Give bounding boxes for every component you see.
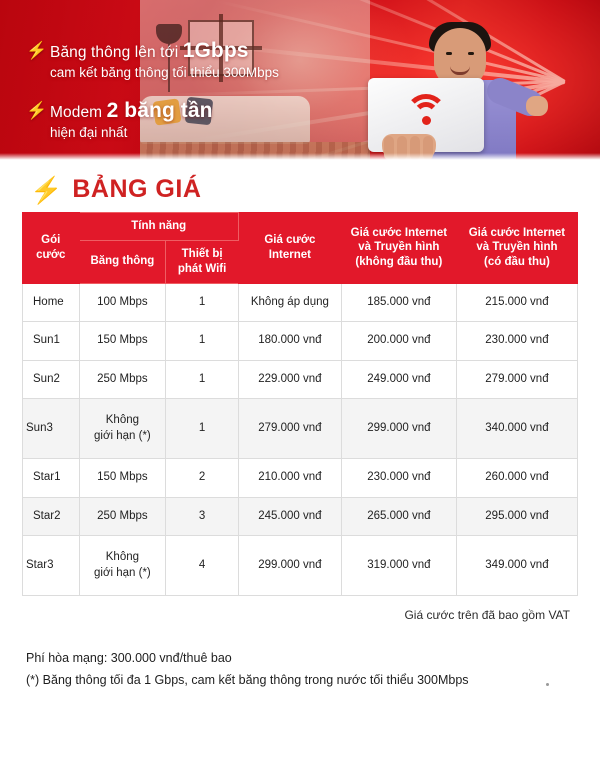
cell-tv-with-receiver: 279.000 vnđ	[456, 360, 577, 399]
cell-bandwidth: Khônggiới hạn (*)	[79, 399, 166, 459]
th-tv-with-receiver-line2: và Truyền hình	[476, 241, 557, 253]
table-body: Home100 Mbps1Không áp dụng185.000 vnđ215…	[23, 283, 578, 596]
cell-wifi-device: 4	[166, 536, 239, 596]
th-tv-no-receiver-line2: và Truyền hình	[358, 241, 439, 253]
table-row: Home100 Mbps1Không áp dụng185.000 vnđ215…	[23, 283, 578, 322]
th-wifi-device-line2: phát Wifi	[178, 263, 226, 275]
cell-bandwidth-line2: giới hạn (*)	[94, 430, 151, 442]
table-row: Sun1150 Mbps1180.000 vnđ200.000 vnđ230.0…	[23, 322, 578, 361]
banner-bullet-2-highlight: 2 băng tần	[107, 99, 213, 122]
th-internet-price: Giá cước Internet	[238, 213, 341, 284]
cell-wifi-device: 1	[166, 360, 239, 399]
cell-wifi-device: 1	[166, 283, 239, 322]
promo-banner: ⚡ Băng thông lên tới 1Gbps cam kết băng …	[0, 0, 600, 161]
th-internet-price-line1: Giá cước	[264, 234, 315, 246]
cell-tv-with-receiver: 340.000 vnđ	[456, 399, 577, 459]
table-header-row-1: Gói cước Tính năng Giá cước Internet Giá…	[23, 213, 578, 241]
cell-tv-with-receiver: 230.000 vnđ	[456, 322, 577, 361]
lightning-bolt-icon: ⚡	[26, 42, 40, 59]
price-table-container: Gói cước Tính năng Giá cước Internet Giá…	[0, 212, 600, 596]
cell-package: Sun2	[23, 360, 80, 399]
th-tv-with-receiver: Giá cước Internet và Truyền hình (có đầu…	[456, 213, 577, 284]
cell-internet-price: 180.000 vnđ	[238, 322, 341, 361]
cell-package: Star3	[23, 536, 80, 596]
cell-package: Home	[23, 283, 80, 322]
page-title: BẢNG GIÁ	[72, 175, 201, 204]
cell-tv-no-receiver: 185.000 vnđ	[341, 283, 456, 322]
cell-wifi-device: 3	[166, 497, 239, 536]
cell-wifi-device: 1	[166, 322, 239, 361]
table-row: Sun2250 Mbps1229.000 vnđ249.000 vnđ279.0…	[23, 360, 578, 399]
banner-bullet-1-highlight: 1Gbps	[183, 39, 249, 62]
banner-bullet-1-line1: Băng thông lên tới 1Gbps	[50, 38, 279, 64]
banner-bullet-2-prefix: Modem	[50, 104, 107, 121]
th-tv-with-receiver-line3: (có đầu thu)	[484, 256, 550, 268]
table-row: Star2250 Mbps3245.000 vnđ265.000 vnđ295.…	[23, 497, 578, 536]
th-internet-price-line2: Internet	[269, 249, 311, 261]
lightning-bolt-icon: ⚡	[26, 102, 40, 119]
cell-bandwidth-line2: giới hạn (*)	[94, 567, 151, 579]
cell-tv-no-receiver: 249.000 vnđ	[341, 360, 456, 399]
cell-bandwidth: 250 Mbps	[79, 497, 166, 536]
table-row: Sun3Khônggiới hạn (*)1279.000 vnđ299.000…	[23, 399, 578, 459]
cell-tv-with-receiver: 260.000 vnđ	[456, 459, 577, 498]
cell-internet-price: 299.000 vnđ	[238, 536, 341, 596]
banner-bullet-2-line1: Modem 2 băng tần	[50, 98, 213, 124]
pointing-hand	[526, 96, 548, 116]
image-speck	[546, 683, 549, 686]
banner-bullet-1-line2: cam kết băng thông tối thiểu 300Mbps	[50, 64, 279, 82]
banner-bullet-1: ⚡ Băng thông lên tới 1Gbps cam kết băng …	[26, 38, 356, 82]
cell-internet-price: Không áp dụng	[238, 283, 341, 322]
price-table: Gói cước Tính năng Giá cước Internet Giá…	[22, 212, 578, 596]
banner-bullet-1-prefix: Băng thông lên tới	[50, 44, 183, 61]
cell-bandwidth: Khônggiới hạn (*)	[79, 536, 166, 596]
th-wifi-device-line1: Thiết bị	[182, 248, 223, 260]
cell-tv-no-receiver: 200.000 vnđ	[341, 322, 456, 361]
table-row: Star1150 Mbps2210.000 vnđ230.000 vnđ260.…	[23, 459, 578, 498]
cell-internet-price: 245.000 vnđ	[238, 497, 341, 536]
cell-tv-no-receiver: 265.000 vnđ	[341, 497, 456, 536]
bandwidth-footnote: (*) Băng thông tối đa 1 Gbps, cam kết bă…	[26, 670, 600, 692]
installation-fee-note: Phí hòa mạng: 300.000 vnđ/thuê bao	[26, 648, 600, 670]
section-title: ⚡ BẢNG GIÁ	[0, 161, 600, 212]
banner-bullet-2-line2: hiện đại nhất	[50, 124, 213, 142]
table-row: Star3Khônggiới hạn (*)4299.000 vnđ319.00…	[23, 536, 578, 596]
footnotes: Phí hòa mạng: 300.000 vnđ/thuê bao (*) B…	[0, 622, 600, 692]
cell-tv-with-receiver: 295.000 vnđ	[456, 497, 577, 536]
cell-internet-price: 229.000 vnđ	[238, 360, 341, 399]
cell-bandwidth: 250 Mbps	[79, 360, 166, 399]
cell-bandwidth: 150 Mbps	[79, 322, 166, 361]
banner-text-block: ⚡ Băng thông lên tới 1Gbps cam kết băng …	[26, 38, 356, 158]
vat-note: Giá cước trên đã bao gồm VAT	[0, 596, 600, 622]
cell-tv-no-receiver: 299.000 vnđ	[341, 399, 456, 459]
th-tv-no-receiver: Giá cước Internet và Truyền hình (không …	[341, 213, 456, 284]
th-tv-no-receiver-line1: Giá cước Internet	[351, 227, 447, 239]
cell-tv-no-receiver: 319.000 vnđ	[341, 536, 456, 596]
cell-tv-no-receiver: 230.000 vnđ	[341, 459, 456, 498]
cell-internet-price: 279.000 vnđ	[238, 399, 341, 459]
lightning-bolt-icon: ⚡	[30, 177, 62, 203]
th-wifi-device: Thiết bị phát Wifi	[166, 240, 239, 283]
cell-package: Sun1	[23, 322, 80, 361]
th-features-group: Tính năng	[79, 213, 238, 241]
wifi-icon	[404, 94, 448, 128]
cell-bandwidth: 100 Mbps	[79, 283, 166, 322]
cell-package: Star2	[23, 497, 80, 536]
cell-tv-with-receiver: 215.000 vnđ	[456, 283, 577, 322]
person-with-laptop	[368, 22, 548, 161]
cell-wifi-device: 2	[166, 459, 239, 498]
banner-bullet-2: ⚡ Modem 2 băng tần hiện đại nhất	[26, 98, 356, 142]
th-package: Gói cước	[23, 213, 80, 284]
cell-bandwidth: 150 Mbps	[79, 459, 166, 498]
cell-internet-price: 210.000 vnđ	[238, 459, 341, 498]
cell-tv-with-receiver: 349.000 vnđ	[456, 536, 577, 596]
table-header: Gói cước Tính năng Giá cước Internet Giá…	[23, 213, 578, 284]
th-bandwidth: Băng thông	[79, 240, 166, 283]
cell-bandwidth-line1: Không	[106, 414, 139, 426]
cell-package: Sun3	[23, 399, 80, 459]
cell-package: Star1	[23, 459, 80, 498]
th-tv-with-receiver-line1: Giá cước Internet	[469, 227, 565, 239]
th-tv-no-receiver-line3: (không đầu thu)	[355, 256, 442, 268]
cell-bandwidth-line1: Không	[106, 551, 139, 563]
cell-wifi-device: 1	[166, 399, 239, 459]
